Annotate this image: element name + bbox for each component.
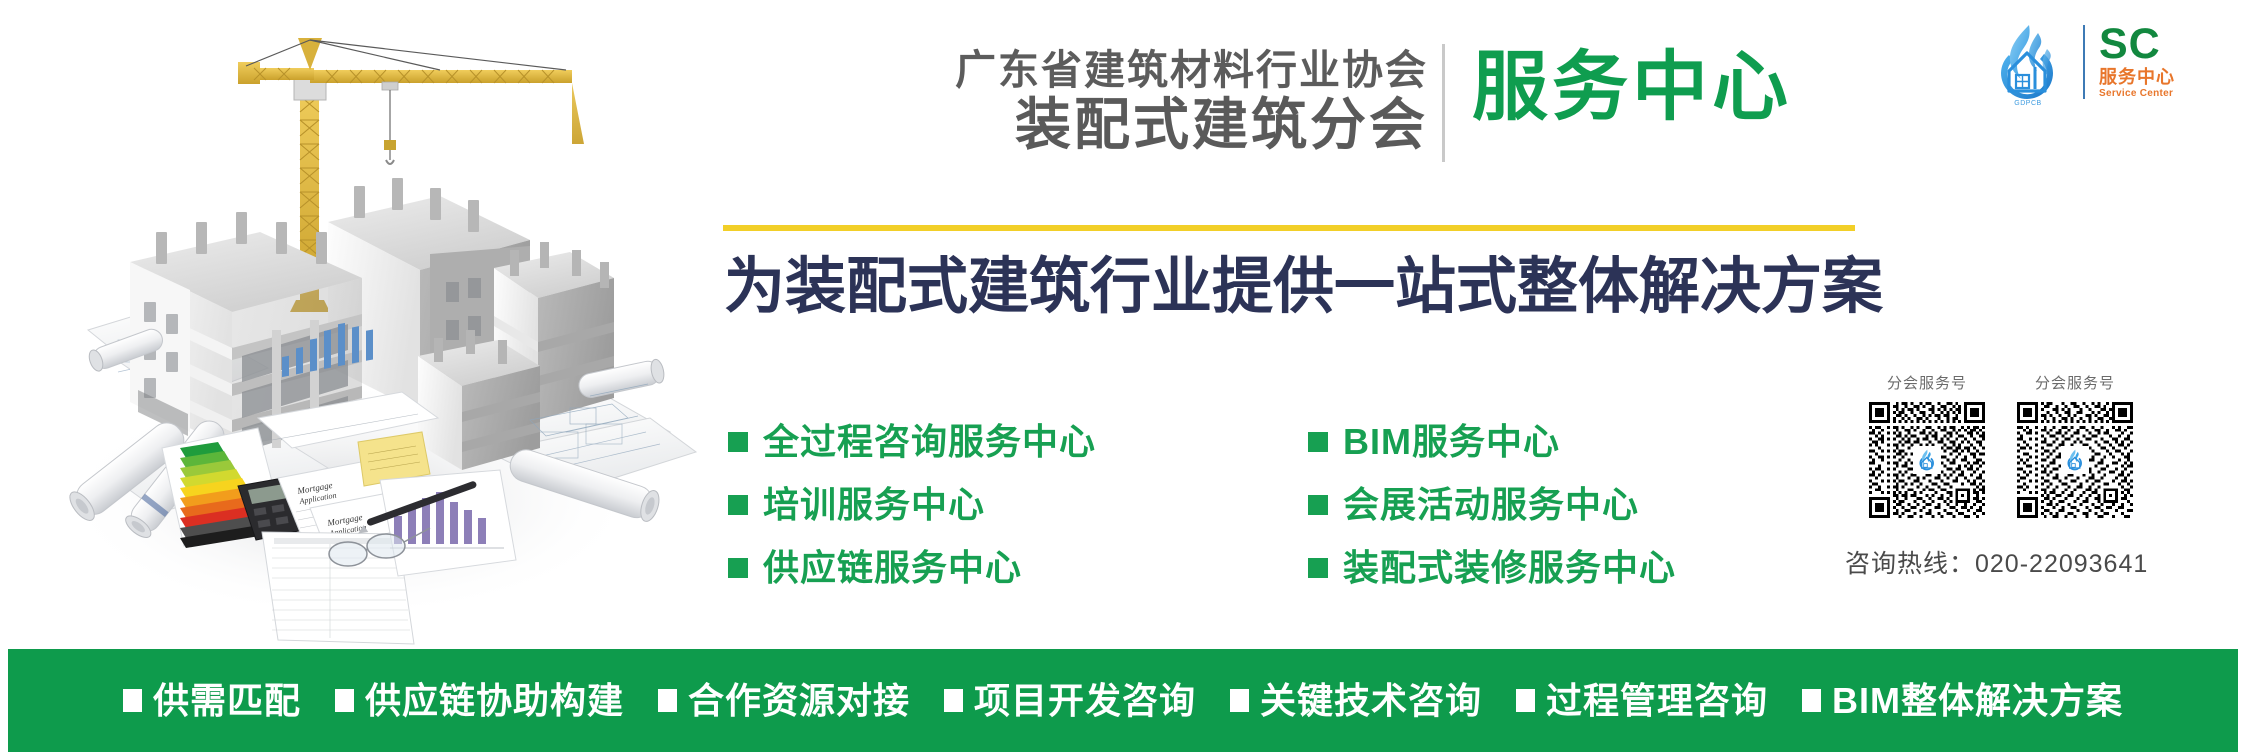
list-item[interactable]: 关键技术咨询 bbox=[1230, 683, 1482, 719]
list-item[interactable]: 会展活动服务中心 bbox=[1308, 473, 1788, 536]
square-bullet-icon bbox=[1230, 689, 1249, 712]
house-flame-icon: GDPCB bbox=[1985, 19, 2071, 105]
list-item-label: BIM服务中心 bbox=[1343, 424, 1560, 460]
sc-letters: SC bbox=[2099, 25, 2235, 65]
list-item-label: 装配式装修服务中心 bbox=[1343, 550, 1676, 586]
list-item[interactable]: 过程管理咨询 bbox=[1516, 683, 1768, 719]
square-bullet-icon bbox=[728, 495, 748, 515]
brand-logo-lockup: GDPCB SC 服务中心 Service Center bbox=[1985, 16, 2235, 108]
purple-bar-chart bbox=[380, 470, 516, 576]
list-item[interactable]: BIM整体解决方案 bbox=[1802, 683, 2123, 719]
list-item[interactable]: 供应链服务中心 bbox=[728, 536, 1248, 599]
header-vertical-divider bbox=[1442, 44, 1445, 162]
square-bullet-icon bbox=[123, 689, 142, 712]
list-item-label: 全过程咨询服务中心 bbox=[763, 424, 1096, 460]
sc-wordmark: SC 服务中心 Service Center bbox=[2099, 25, 2235, 98]
list-item[interactable]: 全过程咨询服务中心 bbox=[728, 410, 1248, 473]
footer-item-list: 供需匹配 供应链协助构建 合作资源对接 项目开发咨询 关键技术咨询 过程管理咨询 bbox=[123, 683, 2123, 719]
list-item-label: 项目开发咨询 bbox=[974, 683, 1196, 719]
sc-english-label: Service Center bbox=[2099, 88, 2235, 99]
logo-divider bbox=[2083, 25, 2085, 99]
sc-chinese-label: 服务中心 bbox=[2099, 67, 2235, 88]
list-item[interactable]: 项目开发咨询 bbox=[944, 683, 1196, 719]
square-bullet-icon bbox=[1308, 558, 1328, 578]
divider bbox=[723, 225, 1855, 231]
construction-site-3d-render: Mortgage Application Mortgage Applicatio… bbox=[10, 0, 700, 645]
slogan: 为装配式建筑行业提供一站式整体解决方案 bbox=[724, 252, 1883, 320]
list-item-label: 供应链服务中心 bbox=[763, 550, 1022, 586]
square-bullet-icon bbox=[728, 432, 748, 452]
square-bullet-icon bbox=[658, 689, 677, 712]
list-item-label: 会展活动服务中心 bbox=[1343, 487, 1639, 523]
promotional-banner: Mortgage Application Mortgage Applicatio… bbox=[0, 0, 2246, 752]
list-item[interactable]: 供需匹配 bbox=[123, 683, 301, 719]
square-bullet-icon bbox=[1308, 495, 1328, 515]
list-item-label: 培训服务中心 bbox=[763, 487, 985, 523]
square-bullet-icon bbox=[1516, 689, 1535, 712]
list-item-label: 过程管理咨询 bbox=[1546, 683, 1768, 719]
house-flame-icon bbox=[2061, 446, 2089, 474]
list-item[interactable]: BIM服务中心 bbox=[1308, 410, 1788, 473]
house-flame-icon bbox=[1913, 446, 1941, 474]
association-name-line1: 广东省建筑材料行业协会 bbox=[848, 48, 1428, 92]
list-item[interactable]: 合作资源对接 bbox=[658, 683, 910, 719]
list-item[interactable]: 装配式装修服务中心 bbox=[1308, 536, 1788, 599]
square-bullet-icon bbox=[1802, 689, 1821, 712]
qr-code-image[interactable] bbox=[1866, 399, 1988, 521]
list-item-label: 供需匹配 bbox=[153, 683, 301, 719]
logo-caption: GDPCB bbox=[1985, 100, 2071, 107]
square-bullet-icon bbox=[728, 558, 748, 578]
qr-code-row: 分会服务号 bbox=[1866, 372, 2166, 521]
qr-code-caption: 分会服务号 bbox=[1866, 372, 1988, 393]
qr-code-cell: 分会服务号 bbox=[2014, 372, 2136, 521]
page-title: 服务中心 bbox=[1472, 50, 1792, 126]
list-item-label: 关键技术咨询 bbox=[1260, 683, 1482, 719]
qr-code-image[interactable] bbox=[2014, 399, 2136, 521]
qr-code-area: 分会服务号 bbox=[1866, 372, 2166, 521]
list-item[interactable]: 培训服务中心 bbox=[728, 473, 1248, 536]
square-bullet-icon bbox=[944, 689, 963, 712]
square-bullet-icon bbox=[335, 689, 354, 712]
association-name-line2: 装配式建筑分会 bbox=[848, 96, 1428, 155]
square-bullet-icon bbox=[1308, 432, 1328, 452]
list-item[interactable]: 供应链协助构建 bbox=[335, 683, 624, 719]
service-list-right: BIM服务中心 会展活动服务中心 装配式装修服务中心 bbox=[1308, 410, 1788, 599]
hotline-text: 咨询热线：020-22093641 bbox=[1845, 544, 2148, 580]
list-item-label: 供应链协助构建 bbox=[365, 683, 624, 719]
list-item-label: 合作资源对接 bbox=[688, 683, 910, 719]
footer-bar: 供需匹配 供应链协助构建 合作资源对接 项目开发咨询 关键技术咨询 过程管理咨询 bbox=[8, 649, 2238, 752]
list-item-label: BIM整体解决方案 bbox=[1832, 683, 2123, 719]
service-list-left: 全过程咨询服务中心 培训服务中心 供应链服务中心 bbox=[728, 410, 1248, 599]
association-name-block: 广东省建筑材料行业协会 装配式建筑分会 bbox=[848, 48, 1428, 155]
qr-code-caption: 分会服务号 bbox=[2014, 372, 2136, 393]
qr-code-cell: 分会服务号 bbox=[1866, 372, 1988, 521]
